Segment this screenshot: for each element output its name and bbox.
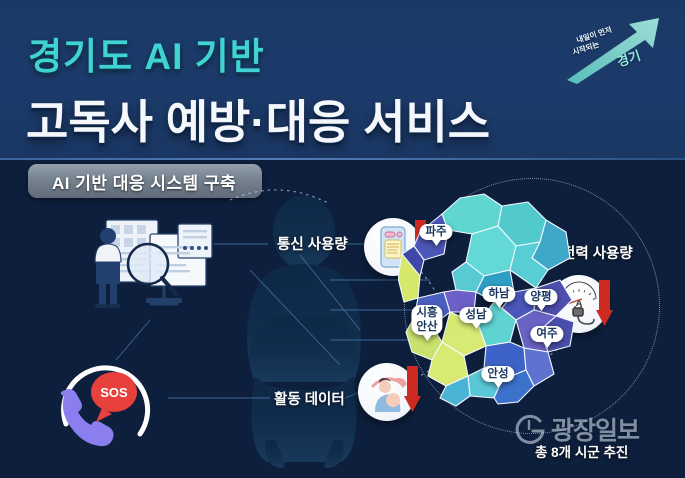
- svg-text:SOS: SOS: [100, 385, 128, 400]
- map-pin-yangpyeong[interactable]: 양평: [524, 289, 557, 305]
- diagram-stage: SOS: [0, 160, 685, 478]
- label-communication-usage: 통신 사용량: [277, 233, 348, 254]
- label-activity-data: 활동 데이터: [274, 388, 345, 409]
- title-line-1: 경기도 AI 기반: [28, 26, 265, 80]
- data-analysis-illustration: [82, 212, 218, 320]
- map-pin-paju[interactable]: 파주: [419, 224, 452, 240]
- map-pin-seongnam[interactable]: 성남: [459, 307, 492, 323]
- map-pin-hanam[interactable]: 하남: [482, 286, 515, 302]
- sos-bubble-icon: SOS: [91, 372, 137, 422]
- map-pin-yeoju[interactable]: 여주: [530, 326, 563, 342]
- gyeonggi-emblem: 내일이 먼저 시작되는 경기: [563, 14, 667, 86]
- title-line-2: 고독사 예방·대응 서비스: [26, 86, 490, 152]
- gyeonggi-province-map: 파주 하남 양평 성남 시흥 안산 여주 안성: [398, 180, 588, 420]
- sos-call-illustration: SOS: [52, 350, 168, 456]
- poster-header: 경기도 AI 기반 고독사 예방·대응 서비스 내일이 먼저 시작되는 경기: [0, 0, 685, 160]
- map-pin-siheung-ansan[interactable]: 시흥 안산: [411, 305, 442, 335]
- map-pin-anseong[interactable]: 안성: [481, 366, 514, 382]
- footnote-total-regions: 총 8개 시군 추진: [535, 441, 628, 461]
- trend-down-arrow-power: [596, 280, 613, 326]
- infographic-poster: 경기도 AI 기반 고독사 예방·대응 서비스 내일이 먼저 시작되는 경기 A…: [0, 0, 685, 478]
